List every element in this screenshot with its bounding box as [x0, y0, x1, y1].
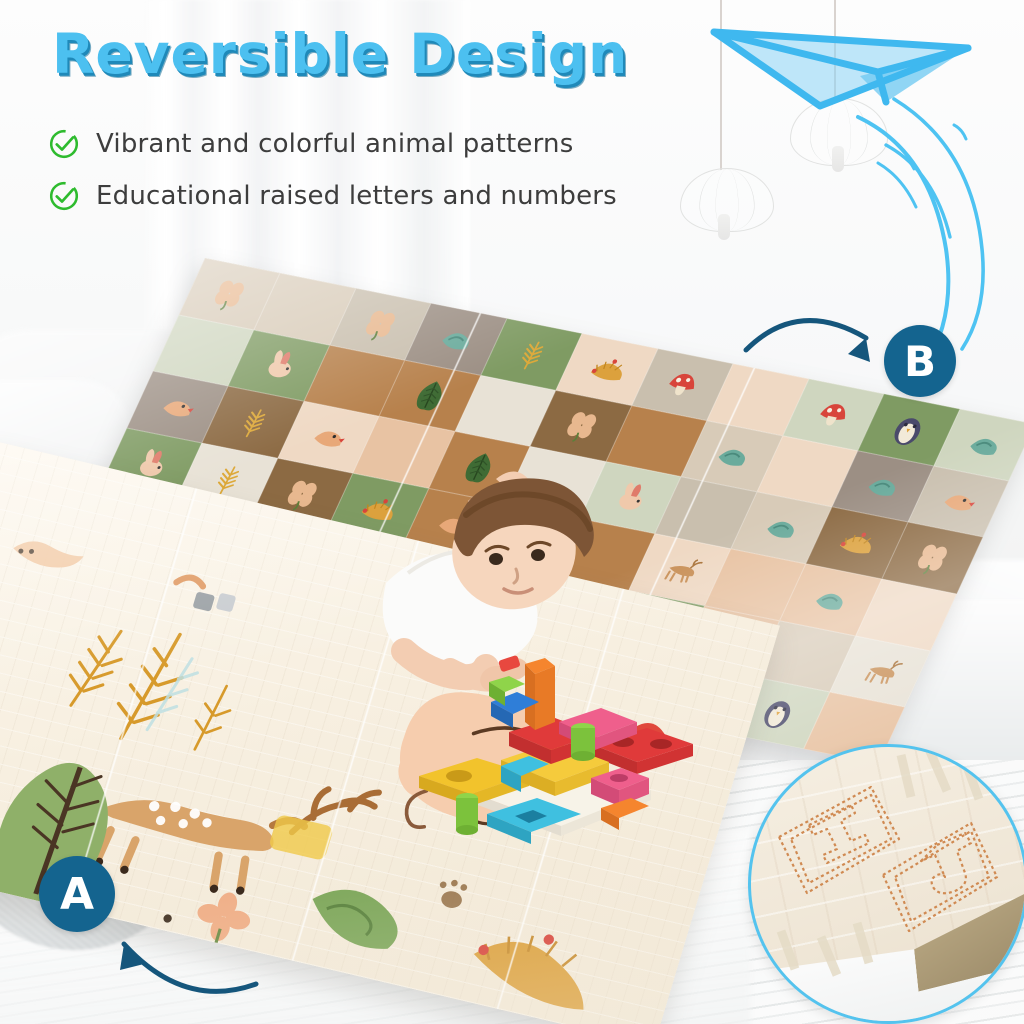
feature-bullet-2-label: Educational raised letters and numbers [96, 181, 617, 211]
side-a-badge[interactable]: A [39, 856, 115, 932]
check-circle-icon [48, 128, 80, 160]
side-b-badge[interactable]: B [884, 325, 956, 397]
raised-letter-zoom-inset [748, 744, 1024, 1024]
feature-bullet-2: Educational raised letters and numbers [48, 170, 617, 222]
letter-j-outline [883, 823, 997, 931]
toy-blocks-motif [170, 575, 238, 617]
feature-bullet-1-label: Vibrant and colorful animal patterns [96, 129, 574, 159]
check-circle-icon [48, 180, 80, 212]
product-feature-image: Reversible Design Vibrant and colorful a… [0, 0, 1024, 1024]
paw-print-motif [434, 877, 469, 910]
feature-bullet-1: Vibrant and colorful animal patterns [48, 118, 617, 170]
feature-bullet-list: Vibrant and colorful animal patterns Edu… [48, 118, 617, 222]
turtle-motif [303, 882, 407, 953]
wooden-stacking-blocks[interactable] [405, 640, 705, 850]
page-title: Reversible Design [52, 22, 628, 86]
hedgehog-motif [465, 919, 603, 1012]
raised-letters-outline [751, 747, 1024, 1021]
letter-i-outline [779, 787, 899, 893]
